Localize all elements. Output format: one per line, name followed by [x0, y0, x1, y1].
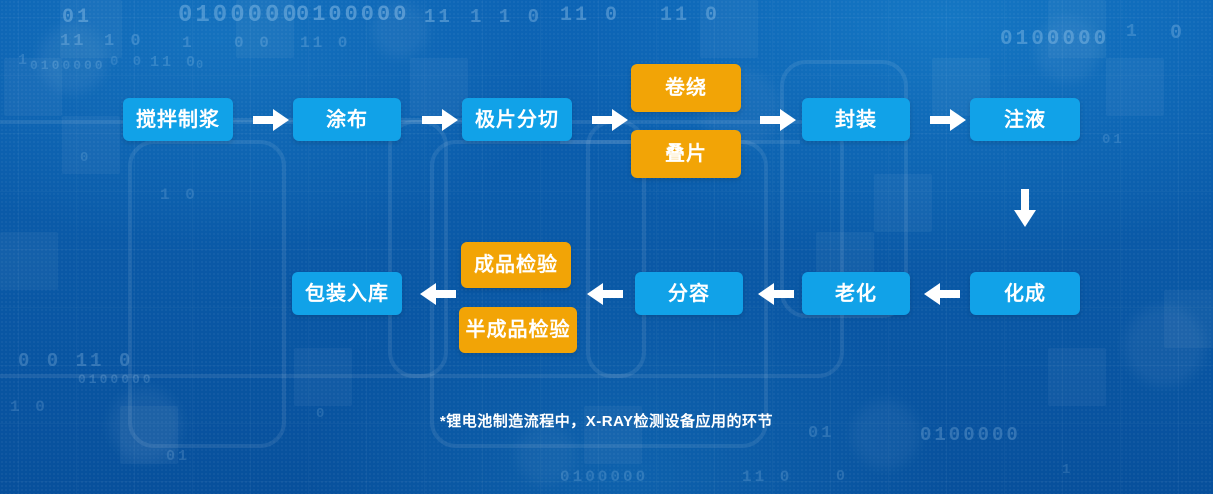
node-winding[interactable]: 卷绕 — [631, 64, 741, 112]
node-semi-inspection[interactable]: 半成品检验 — [459, 307, 577, 353]
node-mixing[interactable]: 搅拌制浆 — [123, 98, 233, 141]
node-semi-inspection-label: 半成品检验 — [466, 320, 571, 340]
node-mixing-label: 搅拌制浆 — [136, 110, 220, 130]
node-aging-label: 老化 — [835, 284, 877, 304]
node-formation-label: 化成 — [1004, 284, 1046, 304]
arrow-electrolyte-to-formation — [1014, 189, 1036, 227]
node-packaging-seal-label: 封装 — [835, 110, 877, 130]
node-warehousing-label: 包装入库 — [305, 284, 389, 304]
arrow-mixing-to-coating — [253, 109, 289, 131]
arrow-inspection-to-warehousing — [420, 283, 456, 305]
arrow-seal-to-electrolyte — [930, 109, 966, 131]
node-coating[interactable]: 涂布 — [293, 98, 401, 141]
arrow-aging-to-grading — [758, 283, 794, 305]
node-electrolyte[interactable]: 注液 — [970, 98, 1080, 141]
node-finished-inspection-label: 成品检验 — [474, 255, 558, 275]
diagram-caption: *锂电池制造流程中，X-RAY检测设备应用的环节 — [0, 410, 1213, 431]
node-electrolyte-label: 注液 — [1004, 110, 1046, 130]
node-packaging-seal[interactable]: 封装 — [802, 98, 910, 141]
node-slitting[interactable]: 极片分切 — [462, 98, 572, 141]
node-warehousing[interactable]: 包装入库 — [292, 272, 402, 315]
arrow-formation-to-aging — [924, 283, 960, 305]
node-winding-label: 卷绕 — [665, 78, 707, 98]
node-aging[interactable]: 老化 — [802, 272, 910, 315]
arrow-slitting-to-forming — [592, 109, 628, 131]
node-coating-label: 涂布 — [326, 110, 368, 130]
diagram-canvas: 0101000000100000111 1 011 011 0010000011… — [0, 0, 1213, 494]
node-slitting-label: 极片分切 — [475, 110, 559, 130]
node-formation[interactable]: 化成 — [970, 272, 1080, 315]
diagram-caption-text: *锂电池制造流程中，X-RAY检测设备应用的环节 — [440, 413, 773, 430]
node-stacking-label: 叠片 — [665, 144, 707, 164]
node-grading-label: 分容 — [668, 284, 710, 304]
node-grading[interactable]: 分容 — [635, 272, 743, 315]
node-stacking[interactable]: 叠片 — [631, 130, 741, 178]
arrow-coating-to-slitting — [422, 109, 458, 131]
node-finished-inspection[interactable]: 成品检验 — [461, 242, 571, 288]
arrow-grading-to-inspection — [587, 283, 623, 305]
arrow-forming-to-seal — [760, 109, 796, 131]
